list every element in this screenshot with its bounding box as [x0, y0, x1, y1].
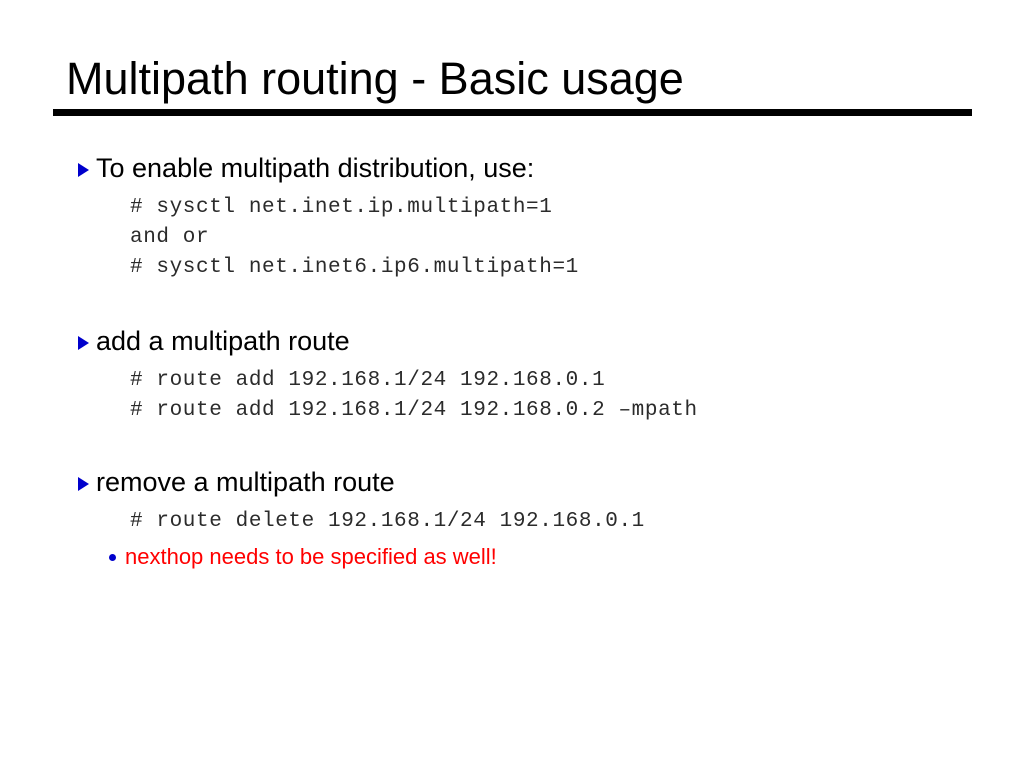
bullet-item-remove-route: remove a multipath route	[0, 466, 1024, 502]
code-line: # route add 192.168.1/24 192.168.0.1	[130, 366, 1024, 396]
bullet-group-add-route: add a multipath route # route add 192.16…	[0, 325, 1024, 426]
bullet-label-remove-route: remove a multipath route	[96, 466, 395, 499]
title-underline-rule	[53, 109, 972, 116]
triangle-bullet-icon	[78, 477, 89, 491]
bullet-label-enable-multipath: To enable multipath distribution, use:	[96, 152, 534, 185]
dot-bullet-icon	[109, 554, 116, 561]
bullet-item-add-route: add a multipath route	[0, 325, 1024, 361]
note-label-nexthop: nexthop needs to be specified as well!	[125, 543, 497, 570]
code-line: # route delete 192.168.1/24 192.168.0.1	[130, 507, 1024, 537]
code-line: # sysctl net.inet6.ip6.multipath=1	[130, 253, 1024, 283]
bullet-label-add-route: add a multipath route	[96, 325, 350, 358]
code-line: # sysctl net.inet.ip.multipath=1	[130, 193, 1024, 223]
page-title: Multipath routing - Basic usage	[53, 52, 972, 106]
bullet-item-enable-multipath: To enable multipath distribution, use:	[0, 152, 1024, 188]
presentation-slide: Multipath routing - Basic usage To enabl…	[0, 0, 1024, 768]
code-line: # route add 192.168.1/24 192.168.0.2 –mp…	[130, 396, 1024, 426]
code-line: and or	[130, 223, 1024, 253]
triangle-bullet-icon	[78, 163, 89, 177]
slide-body: To enable multipath distribution, use: #…	[0, 152, 1024, 570]
code-block-add-route: # route add 192.168.1/24 192.168.0.1 # r…	[0, 366, 1024, 426]
bullet-group-enable-multipath: To enable multipath distribution, use: #…	[0, 152, 1024, 283]
code-block-remove-route: # route delete 192.168.1/24 192.168.0.1	[0, 507, 1024, 537]
code-block-enable-multipath: # sysctl net.inet.ip.multipath=1 and or …	[0, 193, 1024, 283]
triangle-bullet-icon	[78, 336, 89, 350]
note-item-nexthop: nexthop needs to be specified as well!	[0, 543, 1024, 570]
bullet-group-remove-route: remove a multipath route # route delete …	[0, 466, 1024, 570]
section-spacer	[0, 426, 1024, 466]
title-block: Multipath routing - Basic usage	[53, 52, 972, 116]
section-spacer	[0, 283, 1024, 325]
